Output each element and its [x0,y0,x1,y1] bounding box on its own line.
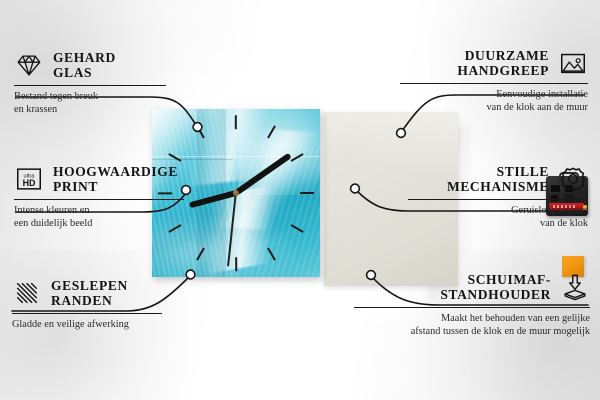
feature-heading: ultra HD HOOGWAARDIGE PRINT [14,164,192,194]
feature-title: GEHARD GLAS [53,50,116,80]
gear-icon [558,164,588,194]
picture-frame-icon [558,48,588,78]
clock-center-cap [233,190,239,196]
feature-description: Maakt het behouden van een gelijke afsta… [346,312,590,338]
clock-reflection-line [152,159,233,160]
feature-divider [14,85,166,86]
feature-divider [400,83,588,84]
clock-tick [300,192,314,194]
feature-title: STILLE MECHANISME [400,164,549,194]
svg-text:HD: HD [23,178,36,188]
ultra-hd-icon: ultra HD [14,164,44,194]
press-pad-icon [560,272,590,302]
feature-duurzame-handgreep: DUURZAME HANDGREEP Eenvoudige installati… [392,48,588,115]
feature-heading: DUURZAME HANDGREEP [392,48,588,78]
feature-description: Bestand tegen breuk en krassen [14,90,174,116]
feature-description: Geruisloze wijzers van de klok [400,204,588,230]
feature-heading: SCHUIMAF- STANDHOUDER [346,272,590,302]
feature-title: GESLEPEN RANDEN [51,278,128,308]
feature-geslepen-randen: GESLEPEN RANDEN Gladde en veilige afwerk… [12,278,172,331]
beveled-edges-icon [12,278,42,308]
feature-divider [354,307,590,308]
feature-heading: STILLE MECHANISME [400,164,588,194]
feature-title: DUURZAME HANDGREEP [392,48,549,78]
feature-gehard-glas: GEHARD GLAS Bestand tegen breuk en krass… [14,50,174,117]
feature-divider [408,199,588,200]
feature-schuimaf-standhouder: SCHUIMAF- STANDHOUDER Maakt het behouden… [346,272,590,339]
diamond-icon [14,50,44,80]
feature-description: Eenvoudige installatie van de klok aan d… [392,88,588,114]
feature-heading: GEHARD GLAS [14,50,174,80]
feature-stille-mechanisme: STILLE MECHANISME Geruisloze wijzers van… [400,164,588,231]
feature-description: Intense kleuren en een duidelijk beeld [14,204,192,230]
feature-heading: GESLEPEN RANDEN [12,278,172,308]
feature-divider [12,313,162,314]
product-infographic: GEHARD GLAS Bestand tegen breuk en krass… [0,0,600,400]
clock-tick [235,257,237,271]
clock-tick [235,115,237,129]
feature-title: HOOGWAARDIGE PRINT [53,164,178,194]
feature-hoogwaardige-print: ultra HD HOOGWAARDIGE PRINT Intense kleu… [14,164,192,231]
feature-title: SCHUIMAF- STANDHOUDER [346,272,551,302]
feature-divider [14,199,184,200]
feature-description: Gladde en veilige afwerking [12,318,172,331]
